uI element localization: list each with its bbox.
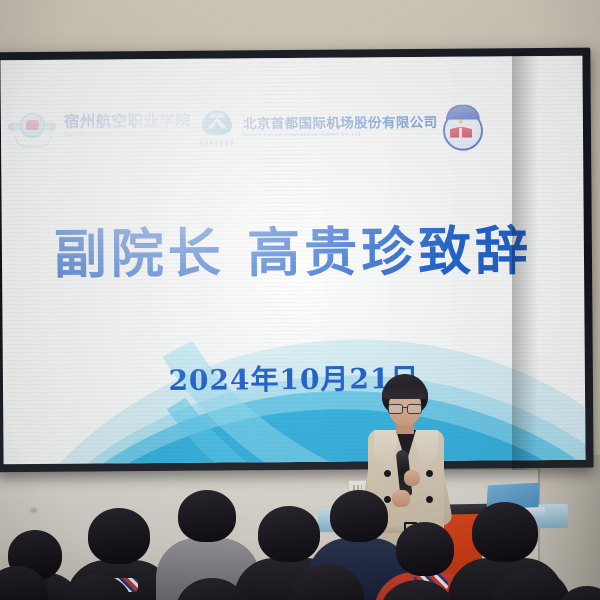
audience-head bbox=[472, 502, 538, 562]
glasses-icon bbox=[388, 404, 422, 413]
airport-circle-icon bbox=[200, 110, 234, 146]
audience-head bbox=[88, 508, 150, 564]
logo-school-crest bbox=[439, 105, 483, 149]
conference-photo: 宿州航空职业学院 Suzhou Vocational College of Ci… bbox=[0, 0, 600, 600]
slide-date: 2024年10月21日 bbox=[3, 356, 585, 401]
audience-group bbox=[0, 468, 600, 600]
logo-name-en: Beijing Capital International Airport Co… bbox=[243, 132, 438, 139]
audience-head bbox=[330, 490, 388, 542]
audience-head bbox=[258, 506, 320, 562]
speaker-hair-fringe bbox=[382, 384, 428, 399]
slide-title: 副院长 高贵珍致辞 bbox=[2, 209, 585, 290]
logo-name-cn: 北京首都国际机场股份有限公司 bbox=[243, 116, 438, 132]
slide-logo-row: 宿州航空职业学院 Suzhou Vocational College of Ci… bbox=[1, 104, 583, 155]
logo-name-cn: 宿州航空职业学院 bbox=[64, 114, 191, 131]
logo-name-en: Suzhou Vocational College of Civil Aviat… bbox=[64, 132, 191, 139]
school-crest-icon bbox=[439, 105, 483, 149]
winged-badge-icon bbox=[9, 110, 55, 144]
presentation-slide: 宿州航空职业学院 Suzhou Vocational College of Ci… bbox=[0, 56, 585, 465]
logo-beijing-capital-airport: 北京首都国际机场股份有限公司 Beijing Capital Internati… bbox=[200, 109, 438, 147]
audience-head bbox=[178, 490, 236, 542]
wall-upper bbox=[0, 0, 600, 54]
audience-head bbox=[396, 522, 454, 576]
logo-suzhou-aviation-college: 宿州航空职业学院 Suzhou Vocational College of Ci… bbox=[9, 109, 191, 144]
